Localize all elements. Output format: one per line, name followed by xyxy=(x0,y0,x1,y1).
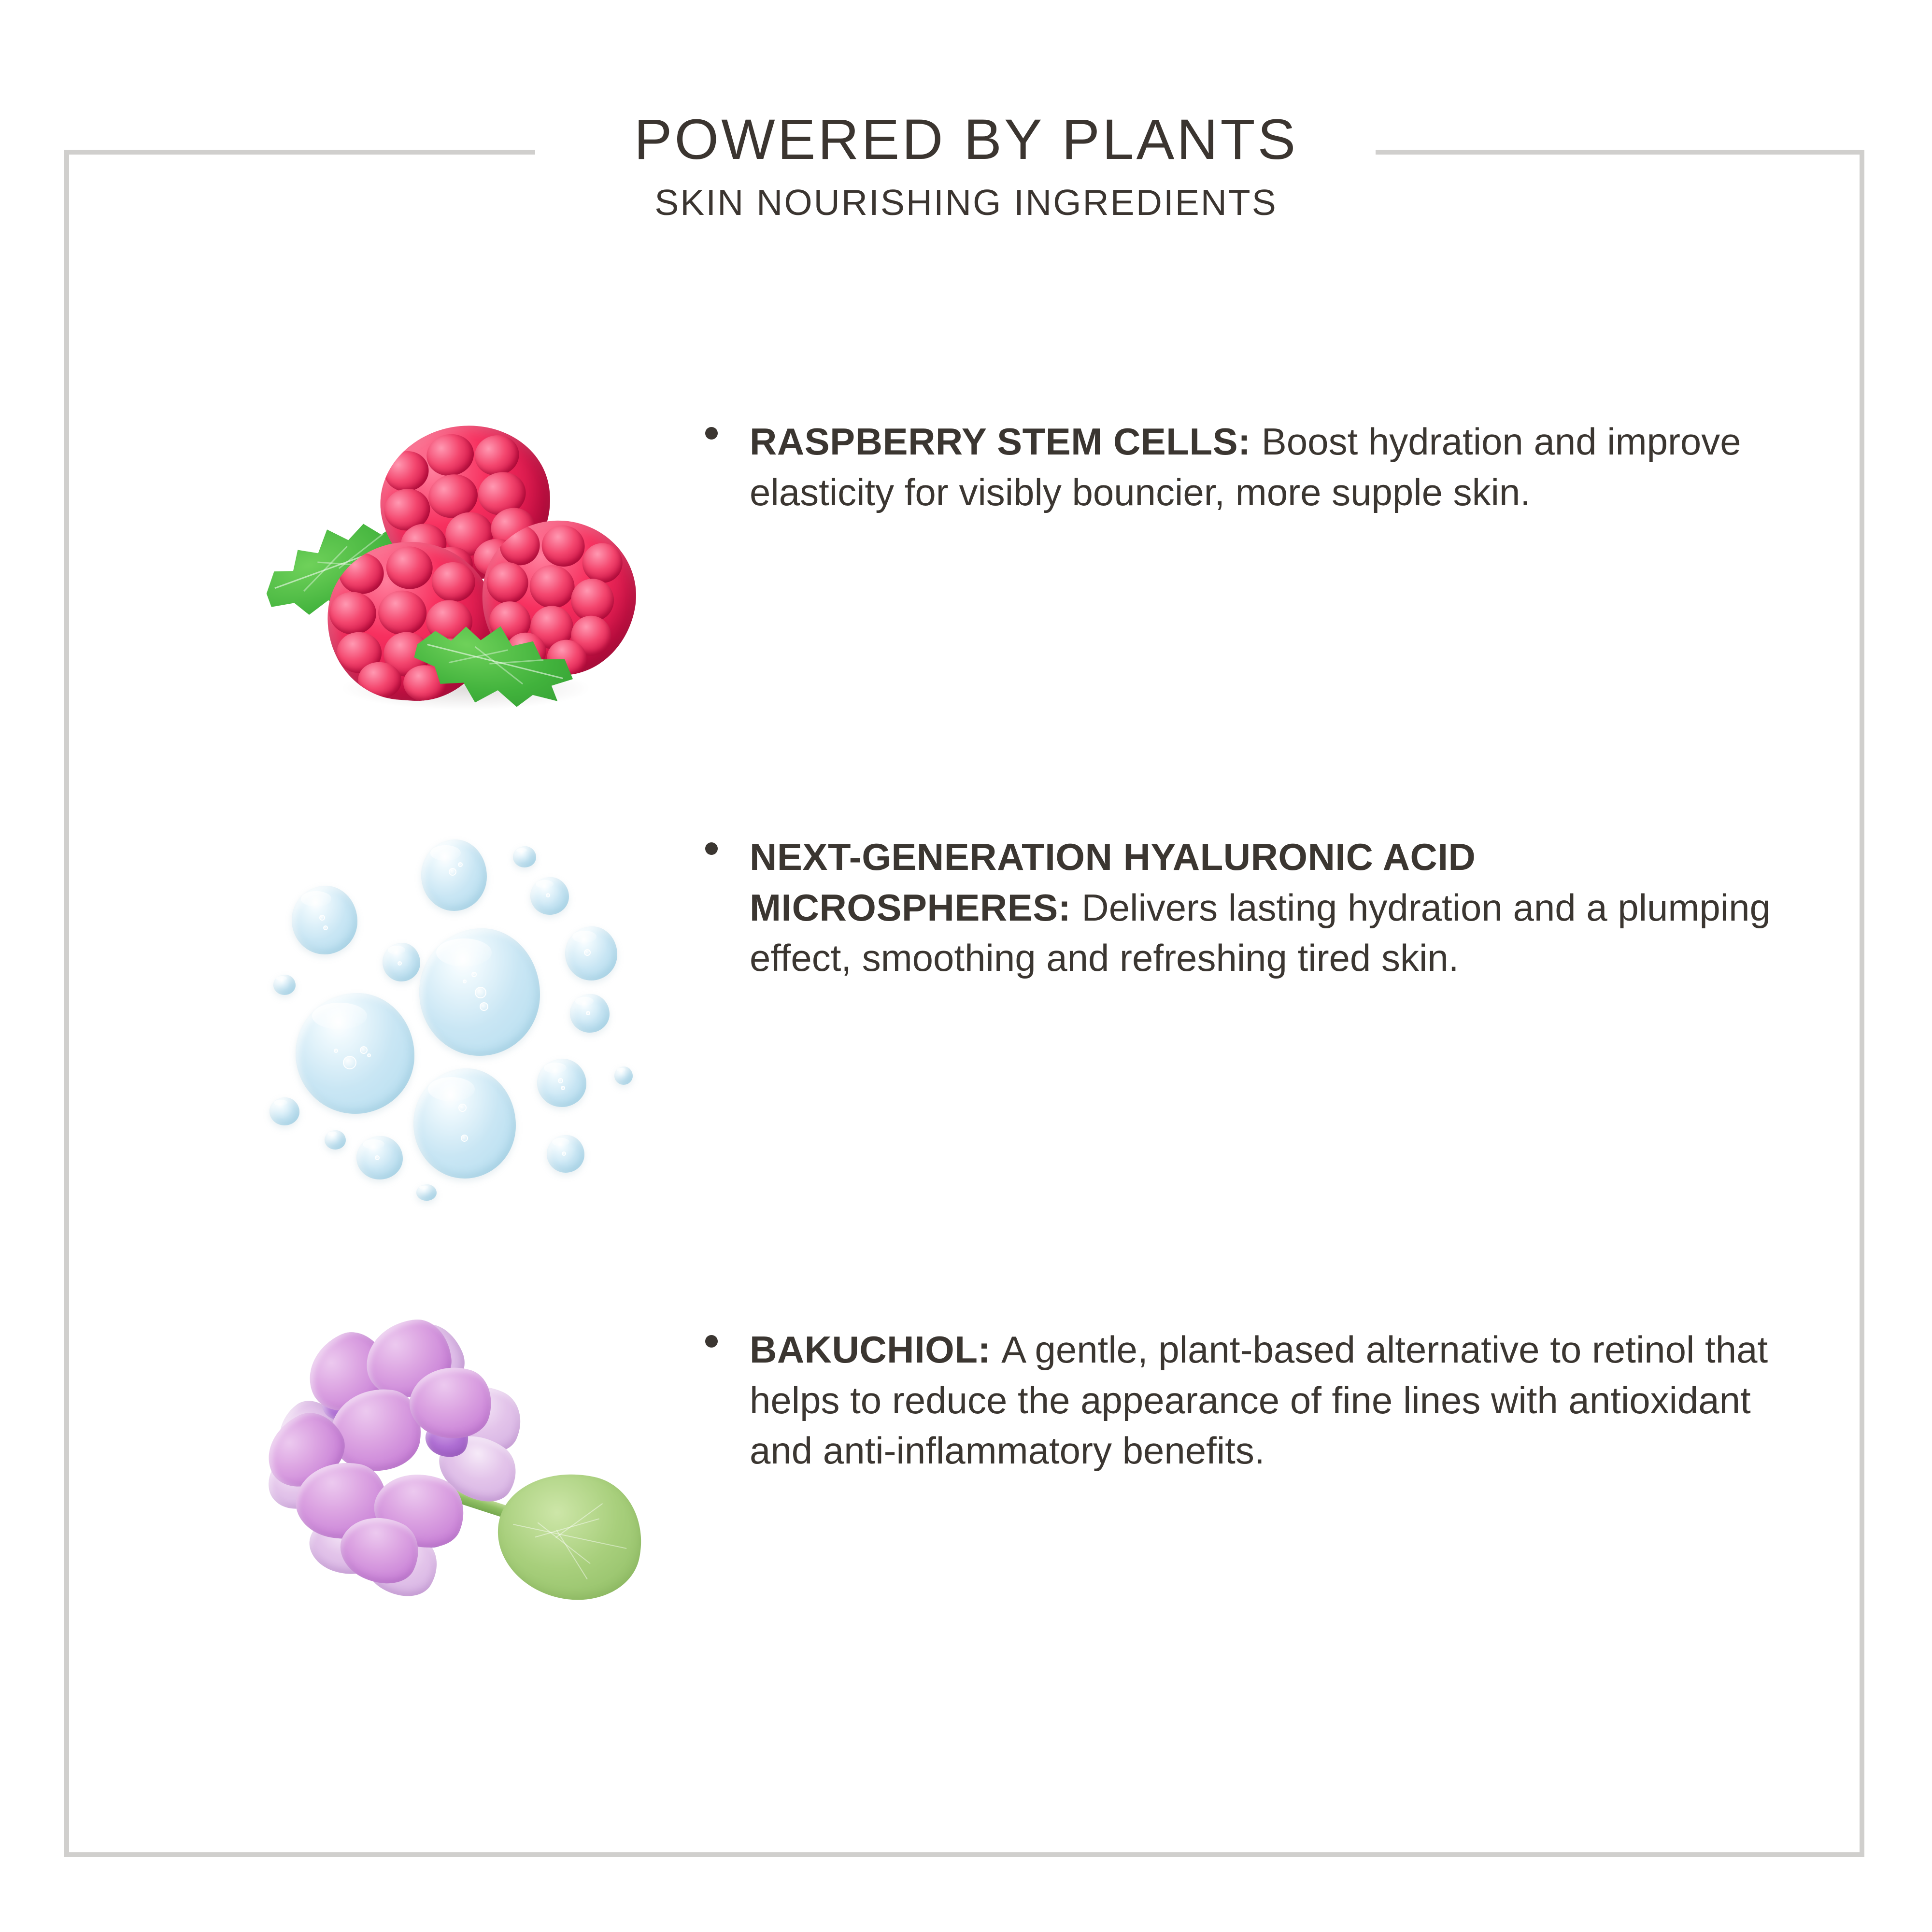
header: POWERED BY PLANTS SKIN NOURISHING INGRED… xyxy=(0,111,1932,221)
gel-droplet xyxy=(547,1135,584,1173)
gel-droplet xyxy=(383,943,420,981)
gel-droplet xyxy=(530,877,569,915)
ingredient-name: RASPBERRY STEM CELLS: xyxy=(750,420,1262,463)
gel-droplet xyxy=(570,994,610,1033)
gel-droplet xyxy=(614,1066,633,1085)
ingredient-row-hyaluronic: NEXT-GENERATION HYALURONIC ACID MICROSPH… xyxy=(193,821,1787,1198)
ingredient-text-raspberry: RASPBERRY STEM CELLS: Boost hydration an… xyxy=(705,406,1787,517)
gel-droplet xyxy=(292,886,357,954)
raspberries-image xyxy=(193,406,705,696)
hyaluronic-acid-droplets-image xyxy=(193,821,705,1198)
gel-droplet xyxy=(416,1184,437,1201)
bullet-icon xyxy=(705,1335,718,1348)
page-subtitle: SKIN NOURISHING INGREDIENTS xyxy=(0,185,1932,221)
ingredient-row-raspberry: RASPBERRY STEM CELLS: Boost hydration an… xyxy=(193,406,1787,696)
ingredient-row-bakuchiol: BAKUCHIOL: A gentle, plant-based alterna… xyxy=(193,1314,1787,1633)
gel-droplet xyxy=(537,1059,586,1107)
ingredient-text-hyaluronic: NEXT-GENERATION HYALURONIC ACID MICROSPH… xyxy=(705,821,1787,983)
ingredient-text-bakuchiol: BAKUCHIOL: A gentle, plant-based alterna… xyxy=(705,1314,1787,1476)
gel-droplet xyxy=(565,926,617,980)
gel-droplet xyxy=(356,1136,403,1179)
gel-droplet xyxy=(325,1130,346,1150)
gel-droplet xyxy=(513,846,536,867)
gel-droplet xyxy=(419,928,540,1056)
page-title: POWERED BY PLANTS xyxy=(0,111,1932,168)
gel-droplet xyxy=(270,1097,299,1125)
ingredient-name: BAKUCHIOL: xyxy=(750,1328,1001,1371)
gel-droplet xyxy=(273,975,296,995)
bakuchiol-flower-image xyxy=(193,1314,705,1633)
gel-droplet xyxy=(296,993,414,1114)
bullet-icon xyxy=(705,427,718,440)
bullet-icon xyxy=(705,842,718,855)
gel-droplet xyxy=(421,839,487,911)
gel-droplet xyxy=(413,1068,516,1179)
